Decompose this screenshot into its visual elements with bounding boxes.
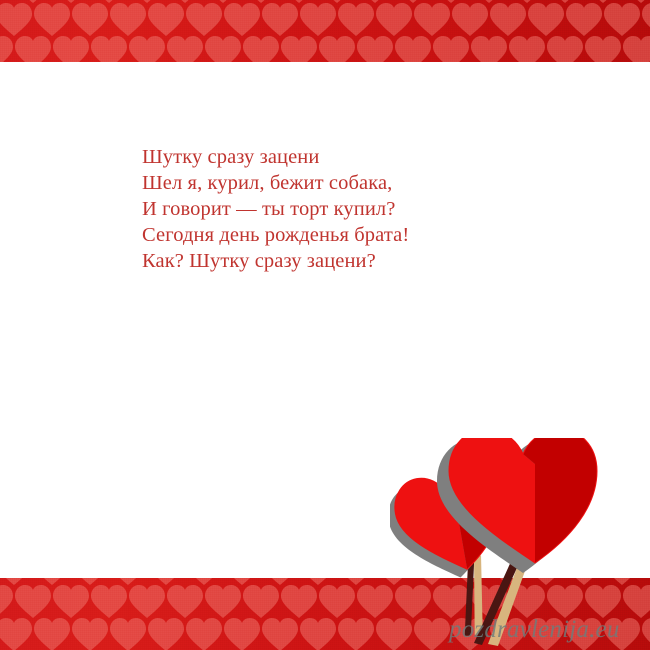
poem-line: Шел я, курил, бежит собака, (142, 170, 602, 196)
greeting-card: Шутку сразу зацени Шел я, курил, бежит с… (0, 0, 650, 650)
poem-line: И говорит — ты торт купил? (142, 196, 602, 222)
poem-line: Шутку сразу зацени (142, 144, 602, 170)
top-heart-pattern-band (0, 0, 650, 62)
heart-lollipops-svg (390, 438, 650, 650)
poem-line: Как? Шутку сразу зацени? (142, 248, 602, 274)
two-heart-lollipops-illustration (390, 438, 650, 650)
poem-text-block: Шутку сразу зацени Шел я, курил, бежит с… (142, 144, 602, 274)
top-band-texture (0, 0, 650, 62)
poem-line: Сегодня день рожденья брата! (142, 222, 602, 248)
